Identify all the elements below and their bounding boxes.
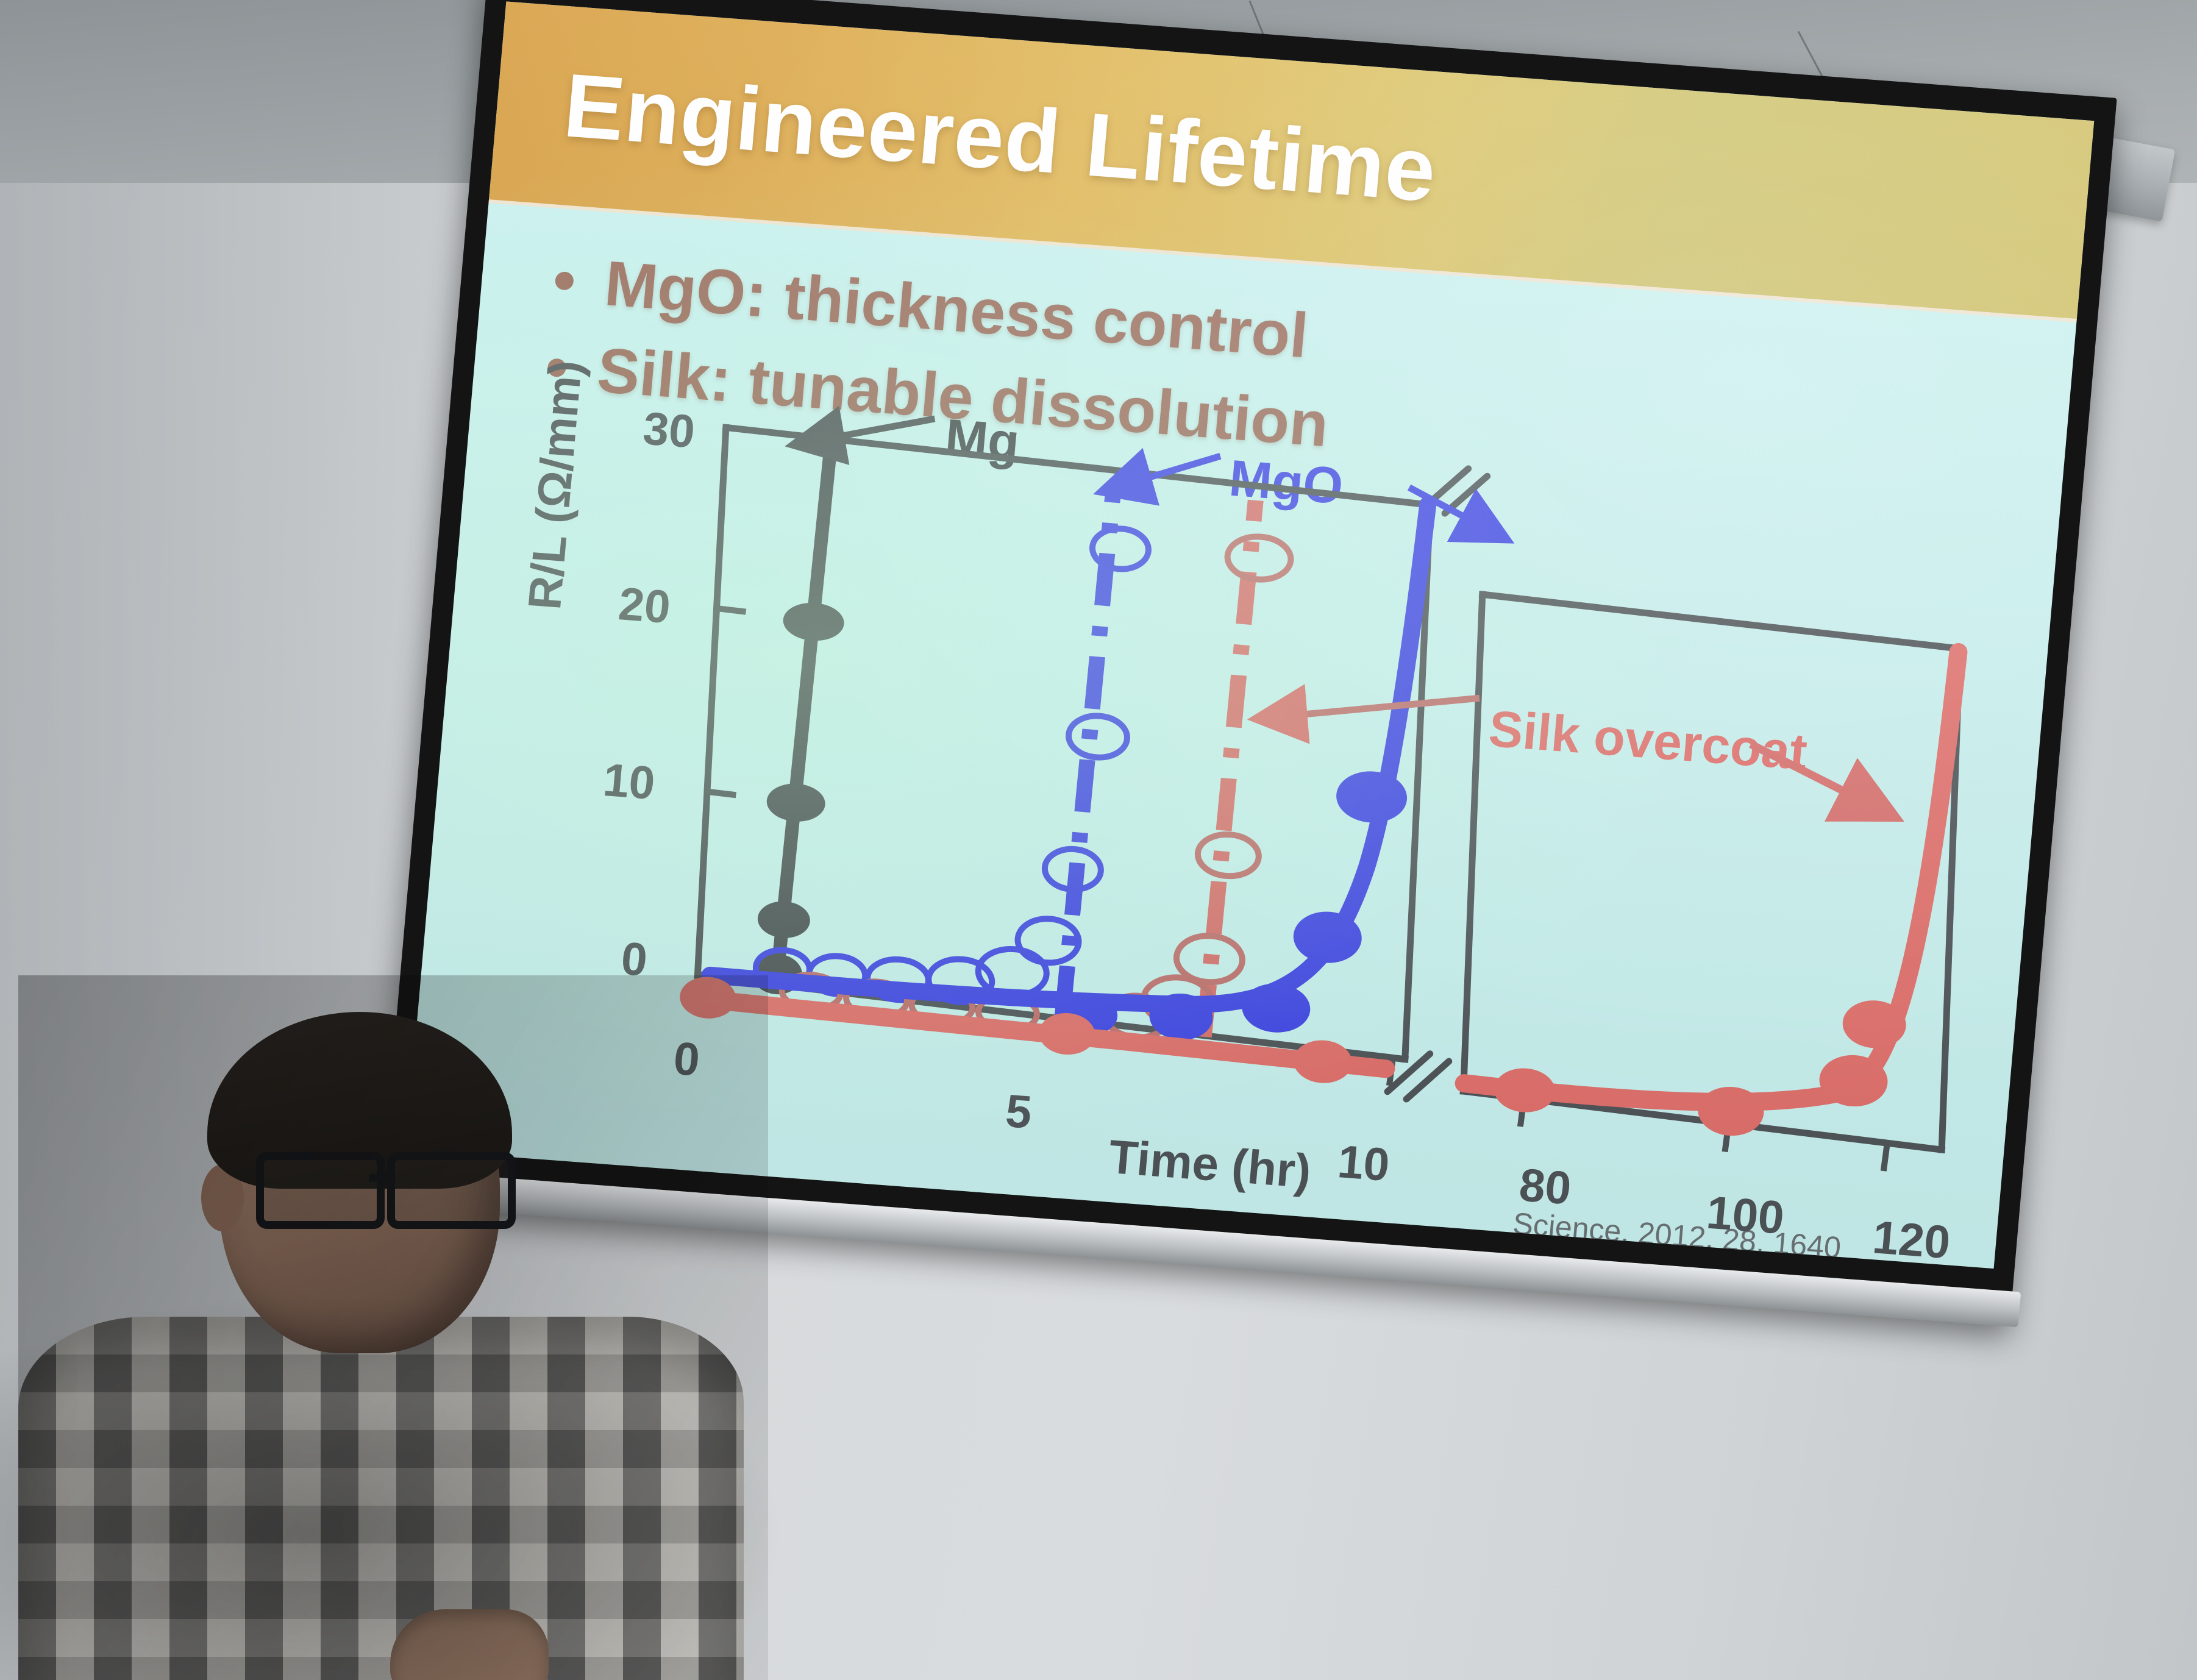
arrow-to-silk-left (1261, 682, 1480, 735)
glasses-bridge (369, 1174, 388, 1182)
series-silk-overcoat (675, 559, 1959, 1150)
presenter-plaid-shirt (18, 1317, 744, 1680)
series-mgo-thin (753, 463, 1154, 1022)
bullet-dot-icon (555, 271, 575, 290)
left-y-ticks (678, 427, 774, 978)
arrow-to-silk-right (1745, 744, 1895, 814)
presenter (18, 975, 768, 1680)
series-mg (750, 436, 860, 997)
presenter-hands (390, 1609, 549, 1680)
presenter-glasses (256, 1152, 518, 1219)
glasses-lens-left (256, 1152, 385, 1229)
glasses-lens-right (387, 1152, 516, 1229)
right-axes-frame (1437, 594, 1987, 1150)
lecture-room: Redleaf Engineered Lifetime MgO: thickne… (0, 0, 2197, 1680)
